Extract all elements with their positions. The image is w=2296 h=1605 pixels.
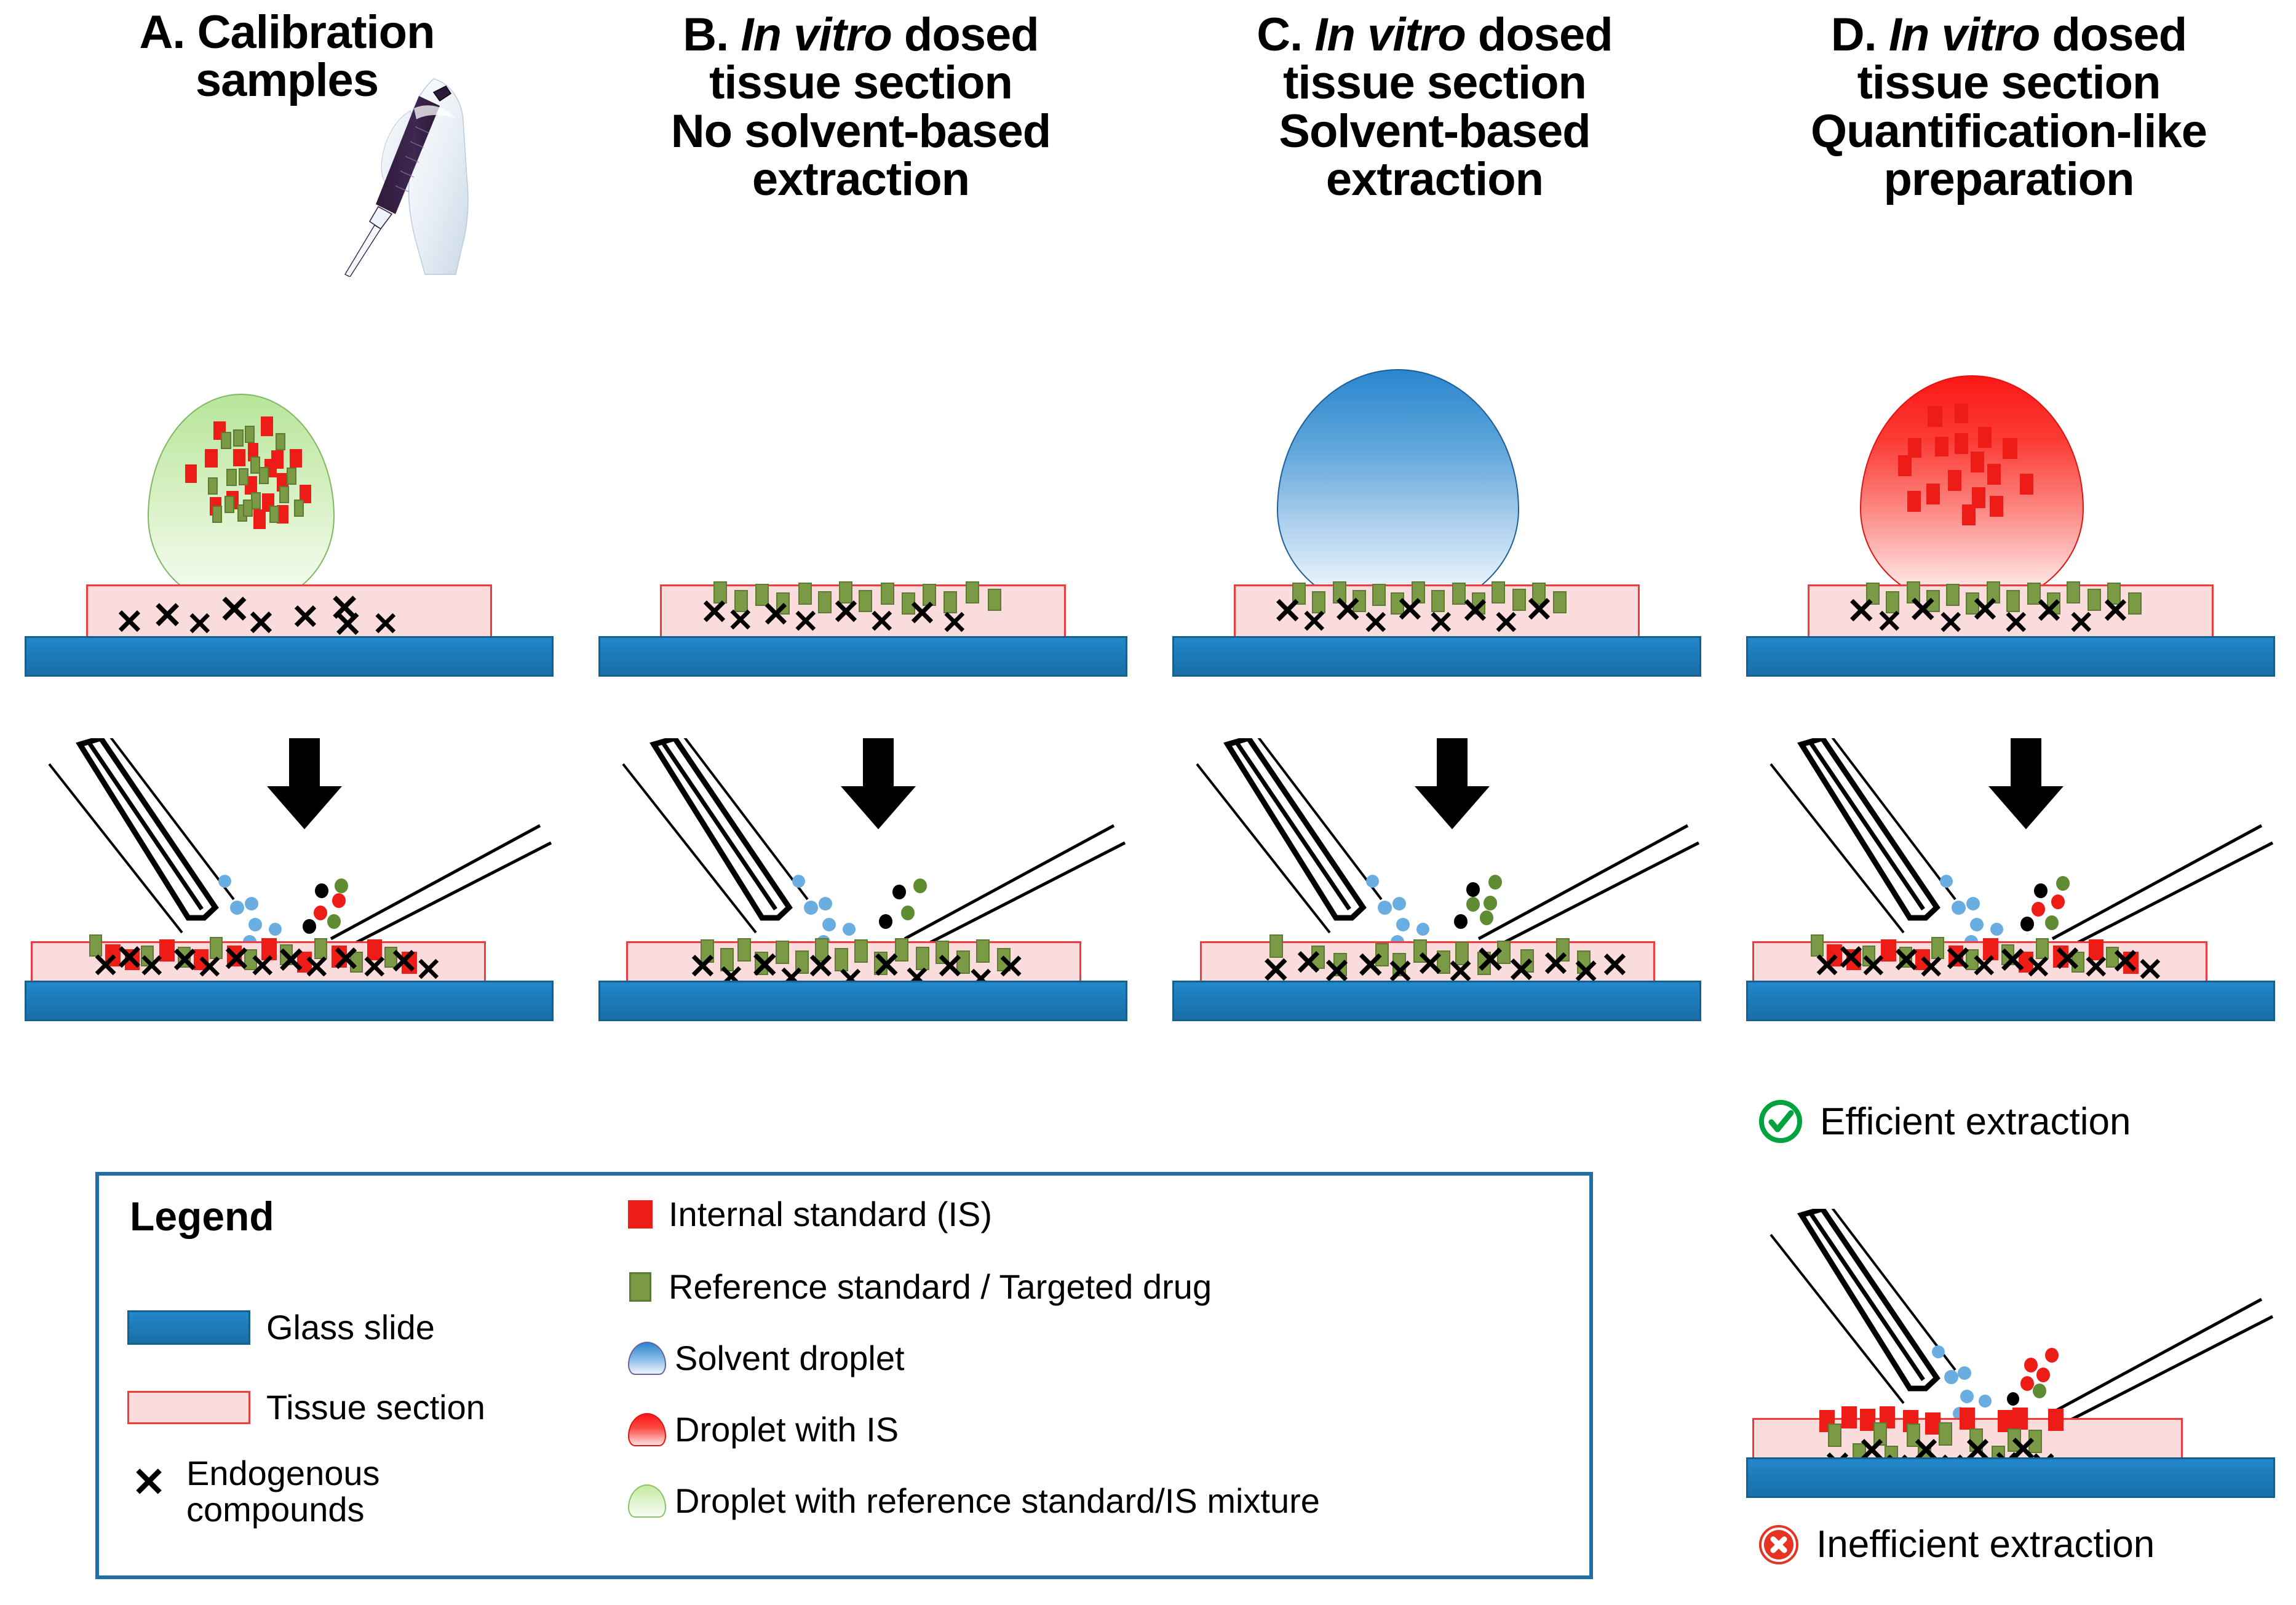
endogenous-compound-mark: ✕ (291, 600, 320, 634)
solvent-spray-dot (218, 875, 231, 888)
solvent-spray-dot (248, 918, 262, 931)
panel-c-title-letter: C. (1257, 9, 1314, 61)
internal-standard-swatch (628, 1200, 653, 1229)
solvent-droplet (1277, 369, 1519, 611)
reference-standard-ion-dot (1488, 875, 1502, 890)
panel-b-stage-top: ✕ ✕ ✕ ✕ ✕ ✕ ✕ ✕ (598, 394, 1127, 677)
panel-c-stage-bottom: ✕ ✕ ✕ ✕ ✕ ✕ ✕ ✕ ✕ ✕ ✕ ✕ (1172, 738, 1701, 1021)
legend-label-tissue-section: Tissue section (266, 1390, 485, 1426)
solvent-spray-dot (843, 923, 856, 936)
panel-c-title-post: dosed (1466, 9, 1613, 61)
solvent-spray-dot (1958, 1366, 1971, 1380)
legend-label-glass-slide: Glass slide (266, 1310, 435, 1346)
legend-item-reference-standard: Reference standard / Targeted drug (628, 1269, 1212, 1305)
glass-slide-swatch (127, 1310, 250, 1345)
endogenous-ion-dot (879, 914, 892, 929)
solvent-spray-dot (1366, 875, 1379, 888)
panel-c-title-line3: Solvent-based (1279, 105, 1590, 157)
legend-label-droplet-with-is: Droplet with IS (675, 1412, 899, 1448)
internal-standard-ion-dot (2036, 1368, 2050, 1382)
desi-sprayer-probe (37, 738, 258, 941)
solvent-spray-dot (792, 875, 805, 888)
endogenous-ion-dot (1454, 914, 1468, 929)
gloved-hand-pipette-icon (341, 74, 501, 277)
solvent-droplet-swatch (628, 1342, 666, 1375)
solvent-spray-dot (819, 897, 832, 910)
reference-standard-ion-dot (2045, 915, 2059, 930)
solvent-spray-dot (1952, 901, 1966, 915)
panel-d-quantification-like-preparation: D. In vitro dosed tissue section Quantif… (1722, 0, 2296, 1605)
endogenous-compound-mark: ✕ (152, 597, 183, 634)
mass-spec-inlet-capillary (900, 818, 1127, 954)
internal-standard-ion-dot (314, 906, 327, 920)
panel-b-title: B. In vitro dosed tissue section No solv… (574, 11, 1148, 204)
panel-d-title-letter: D. (1831, 9, 1889, 61)
down-arrow-icon (1986, 738, 2066, 830)
legend-item-solvent-droplet: Solvent droplet (628, 1340, 905, 1377)
panel-b-glass-slide (598, 636, 1127, 677)
endogenous-ion-dot (2034, 883, 2048, 898)
legend-title: Legend (130, 1193, 274, 1240)
endogenous-compound-mark: ✕ (115, 605, 144, 639)
panel-a-tissue-section: ✕ ✕ ✕ ✕ ✕ ✕ ✕ ✕ ✕ (86, 584, 492, 639)
mass-spec-inlet-capillary (326, 818, 554, 954)
solvent-spray-dot (1990, 923, 2003, 936)
internal-standard-ion-dot (2045, 1348, 2059, 1363)
solvent-spray-dot (1392, 897, 1406, 910)
x-mark-icon: ✕ (127, 1462, 170, 1502)
panel-b-glass-slide-bottom (598, 981, 1127, 1021)
internal-standard-ion-dot (2032, 902, 2045, 917)
internal-standard-ion-dot (2051, 894, 2065, 909)
legend-item-tissue-section: Tissue section (127, 1390, 485, 1426)
panel-c-tissue-section: ✕ ✕ ✕ ✕ ✕ ✕ ✕ ✕ ✕ (1234, 584, 1640, 639)
panel-a-stage-top: ✕ ✕ ✕ ✕ ✕ ✕ ✕ ✕ ✕ (25, 394, 554, 677)
reference-standard-swatch (629, 1272, 651, 1302)
legend-box: Legend Glass slide Tissue section ✕ Endo… (95, 1172, 1593, 1579)
solvent-spray-dot (1396, 918, 1410, 931)
mass-spec-inlet-capillary (2048, 1292, 2275, 1427)
status-efficient-extraction: Efficient extraction (1757, 1098, 2131, 1145)
reference-standard-ion-dot (901, 906, 915, 920)
legend-item-glass-slide: Glass slide (127, 1310, 435, 1346)
panel-c-title-italic: In vitro (1314, 9, 1465, 61)
panel-c-title-line4: extraction (1326, 153, 1543, 205)
legend-label-droplet-with-mixture: Droplet with reference standard/IS mixtu… (675, 1483, 1320, 1519)
panel-c-glass-slide (1172, 636, 1701, 677)
panel-b-title-post: dosed (892, 9, 1039, 61)
panel-b-title-line4: extraction (752, 153, 969, 205)
down-arrow-icon (264, 738, 344, 830)
mass-spec-inlet-capillary (1474, 818, 1701, 954)
droplet-with-mixture-swatch (628, 1484, 666, 1518)
status-efficient-label: Efficient extraction (1820, 1100, 2131, 1144)
solvent-spray-dot (1970, 918, 1984, 931)
panel-b-stage-bottom: ✕ ✕ ✕ ✕ ✕ ✕ ✕ ✕ ✕ ✕ ✕ (598, 738, 1127, 1021)
legend-item-droplet-with-mixture: Droplet with reference standard/IS mixtu… (628, 1483, 1320, 1519)
reference-standard-ion-dot (2056, 876, 2070, 891)
reference-standard-ion-dot (1484, 896, 1497, 910)
panel-a-title-line1: A. Calibration (139, 6, 434, 58)
panel-d-stage-top: ✕ ✕ ✕ ✕ ✕ ✕ ✕ ✕ ✕ (1746, 394, 2275, 677)
solvent-spray-dot (1932, 1345, 1945, 1358)
endogenous-ion-dot (303, 919, 316, 934)
endogenous-ion-dot (2007, 1392, 2019, 1406)
panel-d-stage-efficient: ✕ ✕ ✕ ✕ ✕ ✕ ✕ ✕ ✕ ✕ ✕ ✕ ✕ (1746, 738, 2275, 1021)
endogenous-compound-mark: ✕ (247, 606, 276, 640)
x-circle-icon (1757, 1523, 1800, 1566)
endogenous-ion-dot (892, 885, 906, 899)
panel-b-tissue-section: ✕ ✕ ✕ ✕ ✕ ✕ ✕ ✕ (660, 584, 1066, 639)
solvent-spray-dot (1960, 1390, 1974, 1403)
reference-standard-ion-dot (335, 878, 348, 893)
panel-d-stage-inefficient: ✕ ✕ ✕ ✕ ✕ ✕ ✕ ✕ ✕ (1746, 1215, 2275, 1498)
solvent-spray-dot (245, 897, 258, 910)
solvent-spray-dot (1416, 923, 1429, 936)
panel-c-title: C. In vitro dosed tissue section Solvent… (1148, 11, 1722, 204)
reference-standard-ion-dot (1466, 897, 1480, 912)
panel-a-glass-slide-bottom (25, 981, 554, 1021)
panel-a-glass-slide (25, 636, 554, 677)
panel-d-title-line4: preparation (1883, 153, 2134, 205)
endogenous-compound-mark: ✕ (218, 591, 250, 629)
reference-standard-ion-dot (1480, 910, 1493, 925)
panel-c-stage-top: ✕ ✕ ✕ ✕ ✕ ✕ ✕ ✕ ✕ (1172, 394, 1701, 677)
panel-d-title: D. In vitro dosed tissue section Quantif… (1722, 11, 2296, 204)
droplet-with-is (1860, 375, 2084, 605)
panel-d-glass-slide-inefficient (1746, 1457, 2275, 1498)
check-circle-icon (1757, 1098, 1804, 1145)
reference-standard-ion-dot (913, 878, 927, 893)
status-inefficient-label: Inefficient extraction (1816, 1523, 2155, 1566)
panel-d-title-line3: Quantification-like (1811, 105, 2207, 157)
solvent-spray-dot (269, 923, 282, 936)
internal-standard-ion-dot (2024, 1358, 2038, 1372)
droplet-with-reference-standard-is-mixture (148, 394, 335, 605)
legend-item-internal-standard: Internal standard (IS) (628, 1197, 992, 1233)
panel-b-title-line3: No solvent-based (671, 105, 1051, 157)
desi-sprayer-probe (1185, 738, 1406, 941)
reference-standard-ion-dot (327, 914, 341, 929)
legend-label-internal-standard: Internal standard (IS) (669, 1197, 992, 1233)
mass-spec-inlet-capillary (2048, 818, 2275, 954)
desi-sprayer-probe (611, 738, 832, 941)
solvent-spray-dot (1378, 901, 1392, 915)
panel-d-glass-slide (1746, 636, 2275, 677)
panel-d-tissue-section: ✕ ✕ ✕ ✕ ✕ ✕ ✕ ✕ ✕ (1808, 584, 2214, 639)
legend-item-droplet-with-is: Droplet with IS (628, 1412, 899, 1448)
internal-standard-ion-dot (2020, 1376, 2034, 1391)
endogenous-ion-dot (2020, 917, 2034, 931)
solvent-spray-dot (1966, 897, 1980, 910)
panel-a-stage-bottom: ✕ ✕ ✕ ✕ ✕ ✕ ✕ ✕ ✕ ✕ ✕ ✕ ✕ (25, 738, 554, 1021)
down-arrow-icon (1412, 738, 1492, 830)
panel-c-glass-slide-bottom (1172, 981, 1701, 1021)
endogenous-ion-dot (1466, 882, 1480, 897)
desi-sprayer-probe (1758, 738, 1980, 941)
reference-standard-ion-dot (2033, 1384, 2046, 1398)
legend-label-endogenous-compounds: Endogenous compounds (186, 1456, 451, 1528)
legend-item-endogenous-compounds: ✕ Endogenous compounds (127, 1456, 451, 1528)
solvent-spray-dot (822, 918, 836, 931)
panel-b-title-letter: B. (683, 9, 741, 61)
status-inefficient-extraction: Inefficient extraction (1757, 1523, 2155, 1566)
solvent-spray-dot (230, 901, 244, 915)
solvent-spray-dot (1944, 1370, 1958, 1384)
panel-c-title-line2: tissue section (1283, 57, 1586, 109)
solvent-spray-dot (804, 901, 818, 915)
panel-d-glass-slide-efficient (1746, 981, 2275, 1021)
panel-d-title-post: dosed (2040, 9, 2187, 61)
solvent-spray-dot (1940, 875, 1953, 888)
legend-label-solvent-droplet: Solvent droplet (675, 1340, 905, 1377)
panel-d-title-line2: tissue section (1857, 57, 2161, 109)
internal-standard-ion-dot (332, 893, 346, 908)
droplet-with-is-swatch (628, 1413, 666, 1446)
endogenous-ion-dot (315, 883, 328, 898)
down-arrow-icon (838, 738, 918, 830)
solvent-spray-dot (1979, 1395, 1992, 1408)
panel-d-title-italic: In vitro (1889, 9, 2040, 61)
legend-label-reference-standard: Reference standard / Targeted drug (669, 1269, 1212, 1305)
panel-b-title-italic: In vitro (741, 9, 891, 61)
panel-b-title-line2: tissue section (709, 57, 1012, 109)
tissue-section-swatch (127, 1391, 250, 1424)
